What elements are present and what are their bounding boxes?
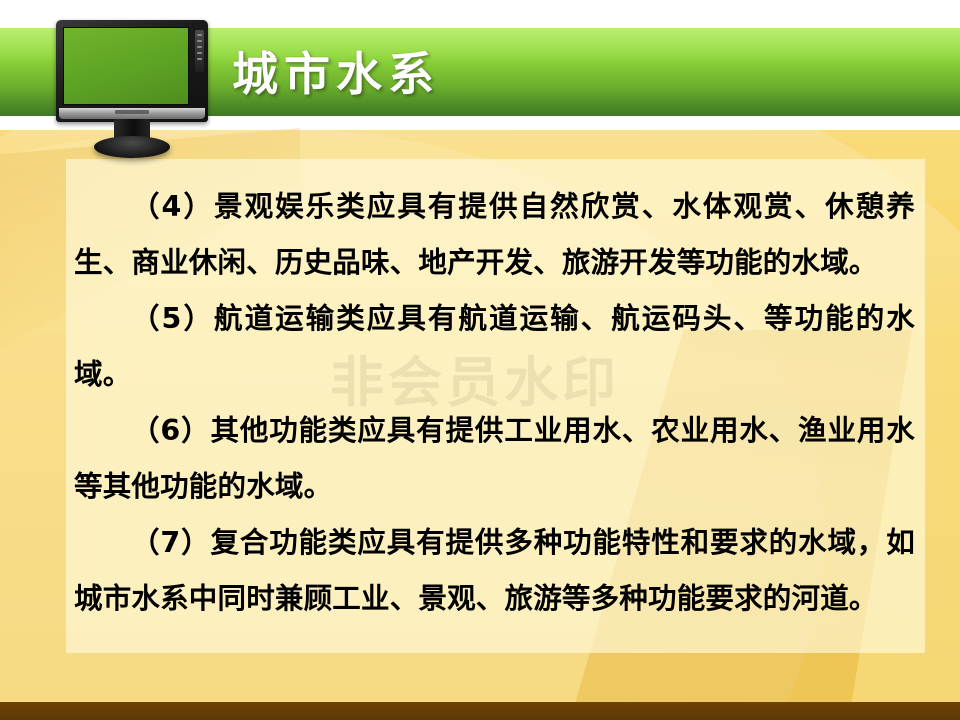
- monitor-chin: [59, 108, 205, 119]
- paragraph-6: （6）其他功能类应具有提供工业用水、农业用水、渔业用水等其他功能的水域。: [74, 403, 915, 515]
- paragraph-7: （7）复合功能类应具有提供多种功能特性和要求的水域，如城市水系中同时兼顾工业、景…: [74, 515, 915, 627]
- monitor-stand-base: [94, 136, 170, 158]
- monitor-buttons-icon: [195, 30, 204, 72]
- slide: 城市水系 （4）景观娱乐类应具有提供自然欣赏、水体观赏、休憩养生、商业休闲、历史…: [0, 0, 960, 720]
- monitor-bezel: [56, 20, 208, 122]
- paragraph-4: （4）景观娱乐类应具有提供自然欣赏、水体观赏、休憩养生、商业休闲、历史品味、地产…: [74, 179, 915, 291]
- monitor-icon: [56, 20, 208, 148]
- monitor-screen: [63, 27, 189, 105]
- monitor-brand-logo: [115, 110, 149, 114]
- page-title: 城市水系: [232, 38, 440, 104]
- paragraph-5: （5）航道运输类应具有航道运输、航运码头、等功能的水域。: [74, 291, 915, 403]
- body-text-container: （4）景观娱乐类应具有提供自然欣赏、水体观赏、休憩养生、商业休闲、历史品味、地产…: [66, 159, 925, 653]
- bottom-band: [0, 702, 960, 720]
